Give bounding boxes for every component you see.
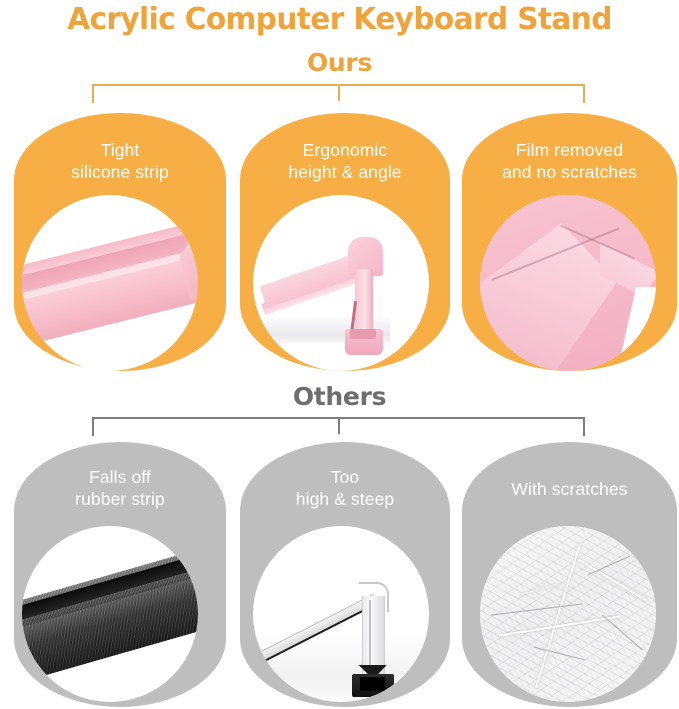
- bracket-tick-left: [92, 417, 94, 436]
- card-ergonomic-height-angle[interactable]: Ergonomic height & angle: [240, 113, 450, 371]
- section-heading-ours: Ours: [0, 48, 679, 77]
- black-rubber-strip-photo: [22, 526, 198, 702]
- bracket-others: [92, 417, 585, 436]
- bracket-tick-right: [583, 84, 585, 103]
- section-heading-others: Others: [0, 382, 679, 411]
- steep-clear-stand-photo: [253, 526, 429, 702]
- page-title: Acrylic Computer Keyboard Stand: [5, 2, 674, 37]
- pink-angled-stand-photo: [253, 195, 429, 371]
- card-falls-off-rubber-strip[interactable]: Falls off rubber strip: [14, 442, 226, 707]
- card-too-high-and-steep[interactable]: Too high & steep: [240, 442, 450, 707]
- bracket-tick-left: [92, 84, 94, 103]
- card-tight-silicone-strip[interactable]: Tight silicone strip: [14, 113, 226, 371]
- bracket-tick-right: [583, 417, 585, 436]
- pink-peeled-film-photo: [480, 195, 656, 371]
- pink-silicone-strip-photo: [22, 195, 198, 371]
- card-label: Too high & steep: [240, 466, 450, 510]
- card-label: Film removed and no scratches: [462, 139, 677, 183]
- card-label: Tight silicone strip: [14, 139, 226, 183]
- card-label: Ergonomic height & angle: [240, 139, 450, 183]
- bracket-tick-center: [338, 84, 340, 101]
- card-label: Falls off rubber strip: [14, 466, 226, 510]
- product-comparison-infographic: Acrylic Computer Keyboard Stand Ours Tig…: [0, 0, 679, 709]
- card-label: With scratches: [462, 478, 677, 500]
- bracket-ours: [92, 84, 585, 103]
- bracket-tick-center: [338, 417, 340, 434]
- card-film-removed-no-scratches[interactable]: Film removed and no scratches: [462, 113, 677, 371]
- scratched-surface-photo: [480, 526, 656, 702]
- card-with-scratches[interactable]: With scratches: [462, 442, 677, 707]
